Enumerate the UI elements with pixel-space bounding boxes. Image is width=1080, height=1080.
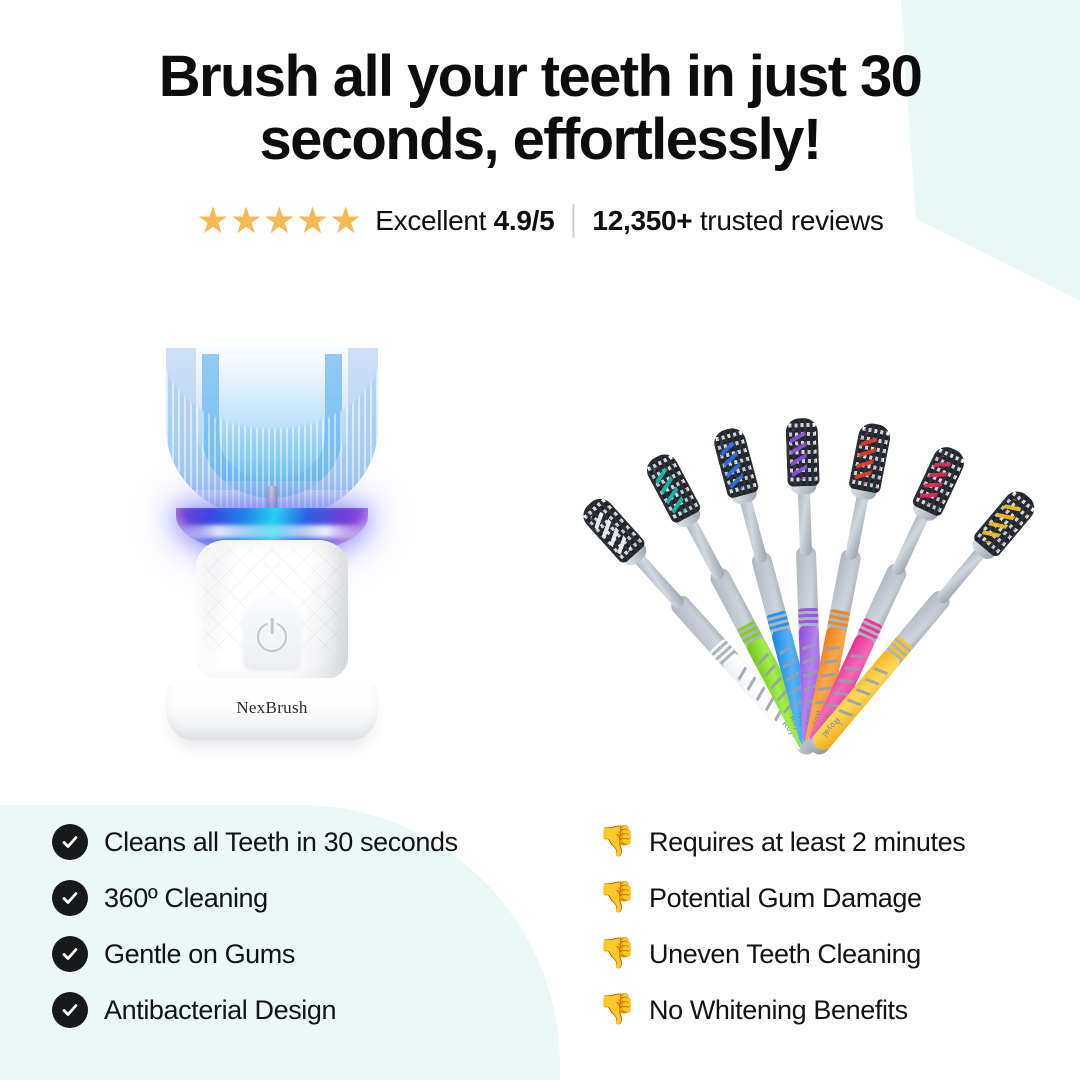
thumbs-down-icon: 👎 [598, 939, 636, 969]
rating-score-text: Excellent 4.9/5 [375, 205, 554, 237]
thumbs-down-icon: 👎 [598, 883, 636, 913]
brush-grip-rings [827, 609, 850, 630]
star-icon: ★ [196, 202, 228, 239]
manual-toothbrush-fan-image: Royal Royal Royal [600, 340, 1060, 780]
check-circle-icon [52, 824, 88, 860]
product-comparison-imagery: NexBrush Royal Royal [0, 300, 1080, 780]
review-count-suffix: trusted reviews [700, 205, 884, 236]
list-item: 👎 No Whitening Benefits [598, 982, 1038, 1038]
cons-item-label: No Whitening Benefits [649, 995, 908, 1026]
star-icon: ★ [296, 202, 328, 239]
u-shaped-electric-toothbrush-image: NexBrush [152, 348, 392, 758]
list-item: Gentle on Gums [52, 926, 552, 982]
star-rating: ★ ★ ★ ★ ★ [196, 202, 361, 239]
rating-row: ★ ★ ★ ★ ★ Excellent 4.9/5 12,350+ truste… [196, 202, 883, 239]
rating-divider [572, 204, 574, 238]
comparison-section: Cleans all Teeth in 30 seconds 360º Clea… [0, 806, 1080, 1080]
page-headline: Brush all your teeth in just 30 seconds,… [60, 46, 1020, 171]
list-item: 👎 Potential Gum Damage [598, 870, 1038, 926]
cons-item-label: Requires at least 2 minutes [649, 827, 965, 858]
list-item: 👎 Requires at least 2 minutes [598, 814, 1038, 870]
toothbrush-handle [196, 540, 348, 680]
check-circle-icon [52, 992, 88, 1028]
review-count-text: 12,350+ trusted reviews [592, 205, 883, 237]
rating-quality-label: Excellent [375, 205, 486, 236]
pros-item-label: Antibacterial Design [104, 995, 336, 1026]
thumbs-down-icon: 👎 [598, 827, 636, 857]
cons-column: 👎 Requires at least 2 minutes 👎 Potentia… [598, 814, 1038, 1038]
list-item: Cleans all Teeth in 30 seconds [52, 814, 552, 870]
brand-label: NexBrush [166, 698, 378, 718]
list-item: 👎 Uneven Teeth Cleaning [598, 926, 1038, 982]
rating-score-value: 4.9/5 [494, 205, 555, 236]
pros-item-label: Cleans all Teeth in 30 seconds [104, 827, 458, 858]
cons-item-label: Uneven Teeth Cleaning [649, 939, 921, 970]
star-icon: ★ [263, 202, 295, 239]
brush-bristle-accent [790, 428, 808, 481]
power-button[interactable] [243, 596, 301, 670]
u-shaped-brush-head [166, 348, 378, 520]
brush-grip-rings [798, 608, 819, 627]
star-icon: ★ [329, 202, 361, 239]
check-circle-icon [52, 936, 88, 972]
star-icon: ★ [230, 202, 262, 239]
check-circle-icon [52, 880, 88, 916]
list-item: Antibacterial Design [52, 982, 552, 1038]
charging-base: NexBrush [166, 678, 378, 740]
pros-item-label: 360º Cleaning [104, 883, 268, 914]
pros-item-label: Gentle on Gums [104, 939, 295, 970]
list-item: 360º Cleaning [52, 870, 552, 926]
power-icon [257, 622, 287, 652]
pros-column: Cleans all Teeth in 30 seconds 360º Clea… [52, 814, 552, 1038]
thumbs-down-icon: 👎 [598, 995, 636, 1025]
cons-item-label: Potential Gum Damage [649, 883, 922, 914]
review-count-value: 12,350+ [592, 205, 692, 236]
